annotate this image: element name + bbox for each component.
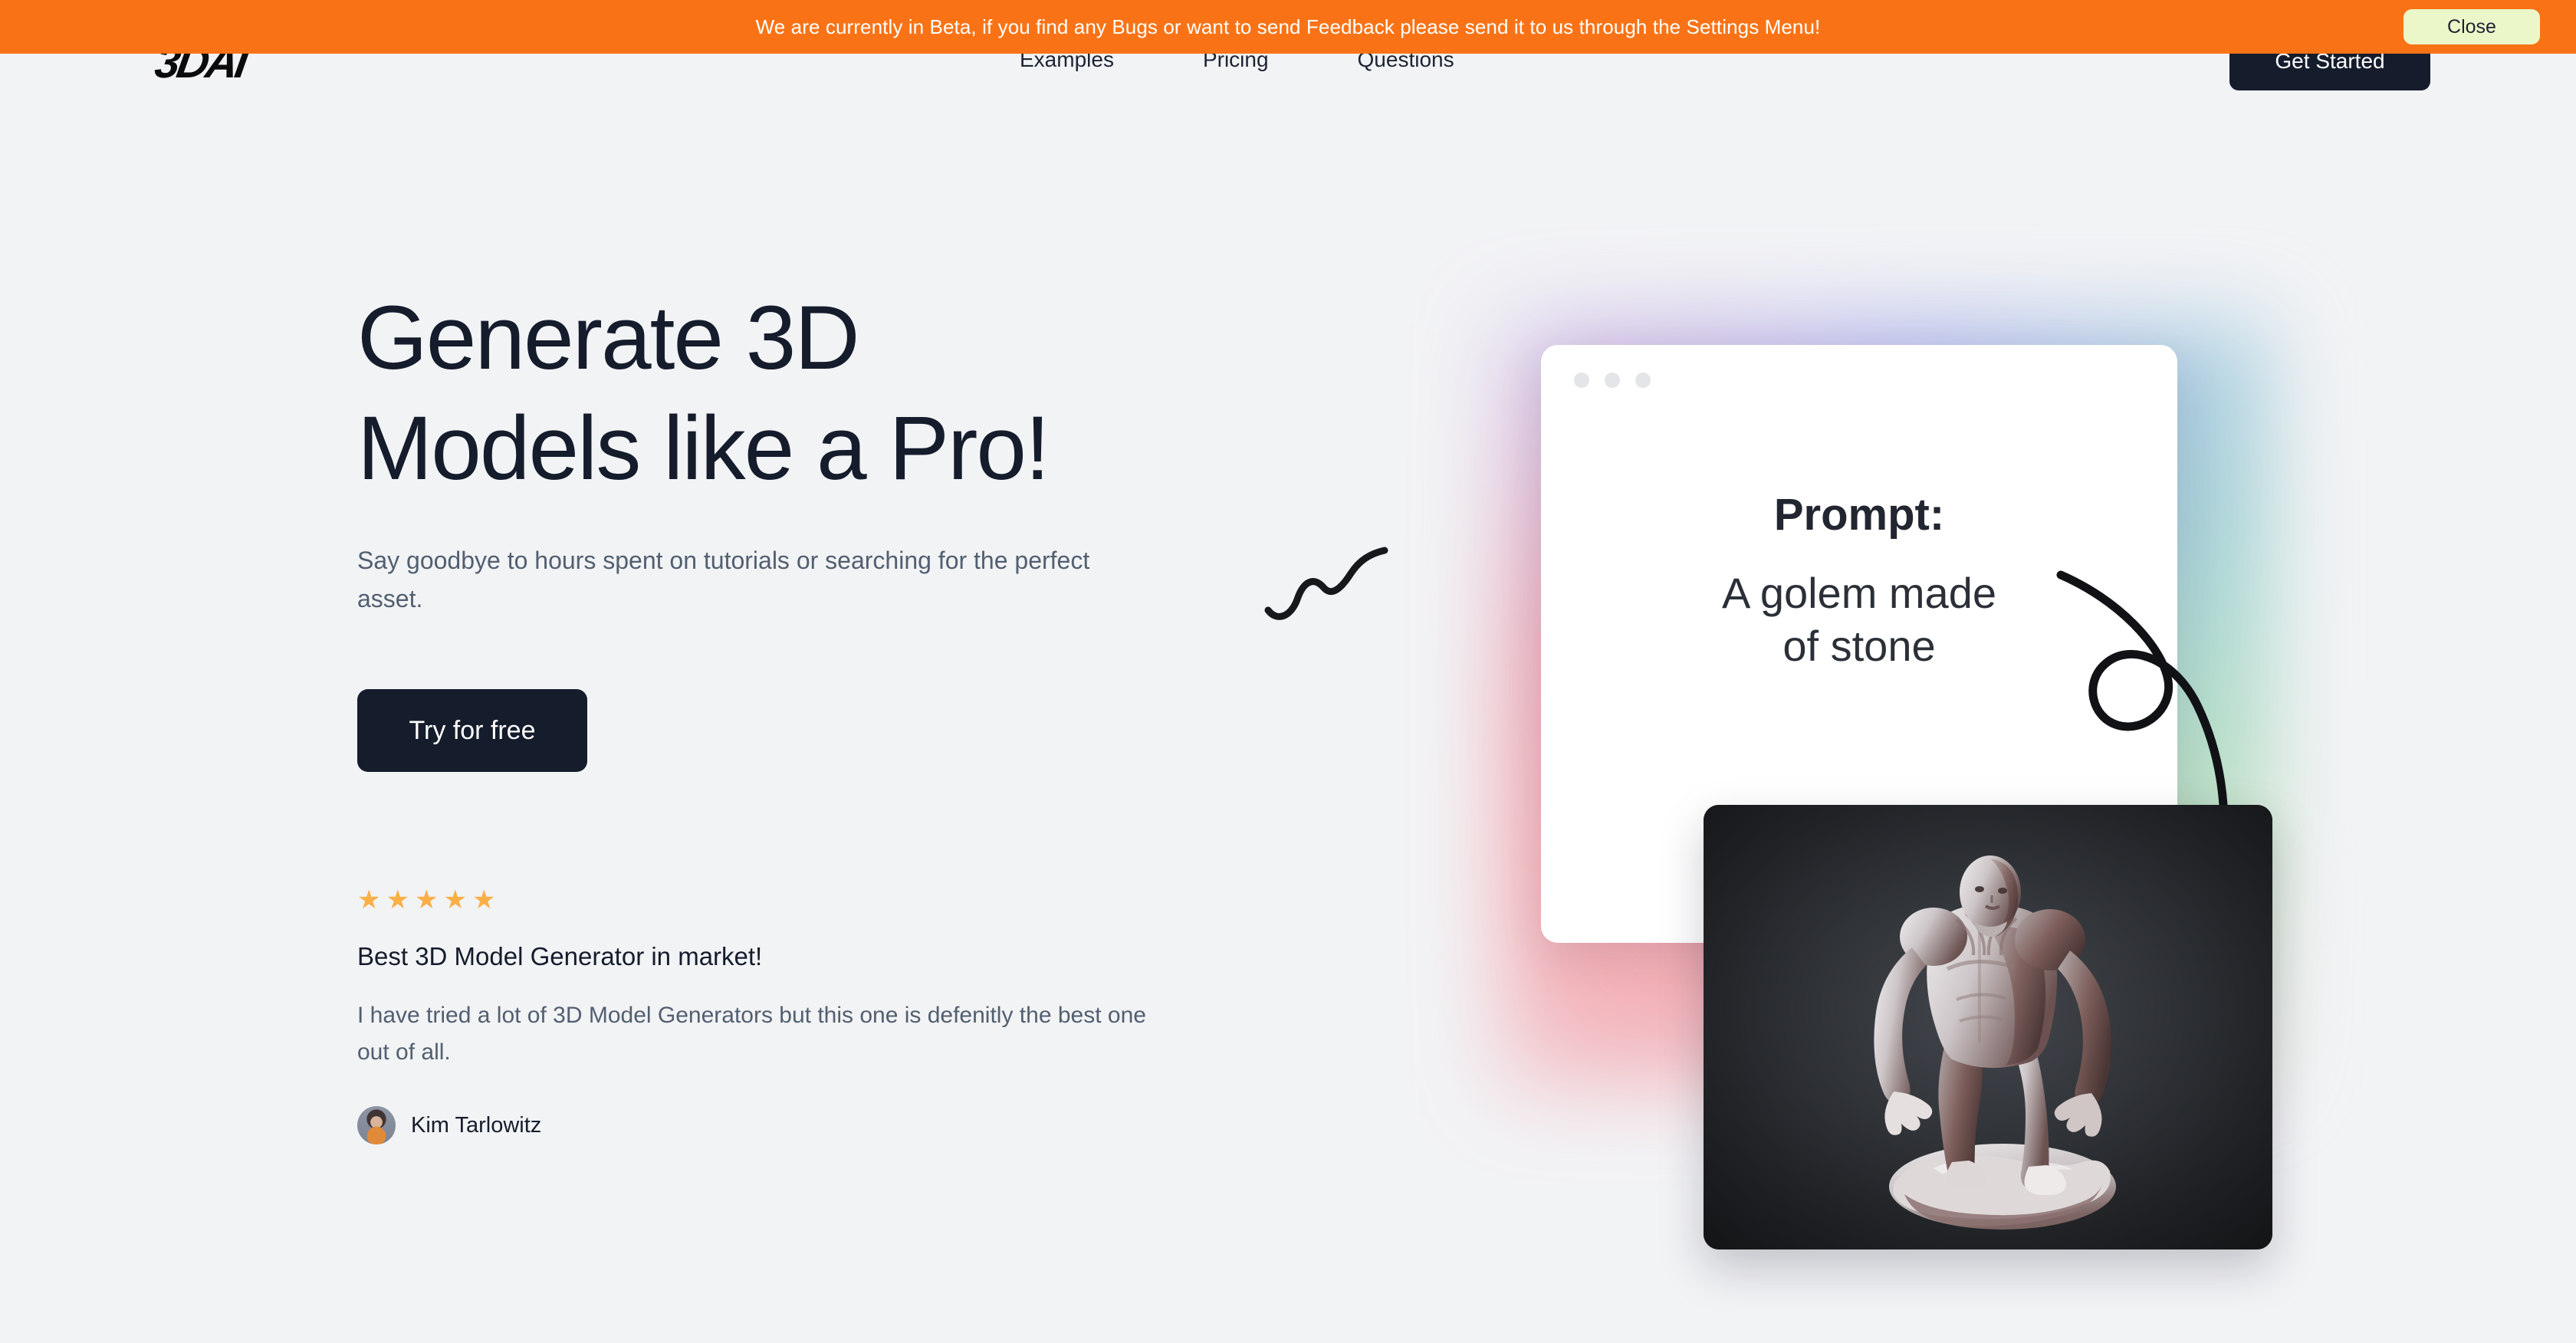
try-for-free-button[interactable]: Try for free (357, 689, 587, 772)
window-dot-icon (1635, 373, 1651, 388)
golem-render-image (1704, 805, 2272, 1249)
star-icon: ★ (443, 887, 466, 913)
rating-stars: ★ ★ ★ ★ ★ (357, 887, 1224, 913)
window-dots (1574, 373, 1651, 388)
window-dot-icon (1605, 373, 1620, 388)
beta-banner: We are currently in Beta, if you find an… (0, 0, 2576, 54)
hero-subtitle: Say goodbye to hours spent on tutorials … (357, 541, 1093, 619)
hero-title-line-1: Generate 3D (357, 287, 859, 389)
hero-visual: Prompt: A golem made of stone (1265, 253, 2461, 1288)
hero-section: Generate 3D Models like a Pro! Say goodb… (357, 284, 1224, 1144)
star-icon: ★ (386, 887, 409, 913)
author-name: Kim Tarlowitz (411, 1113, 541, 1138)
hero-title-line-2: Models like a Pro! (357, 398, 1049, 499)
beta-banner-close-button[interactable]: Close (2403, 9, 2540, 44)
testimonial-author: Kim Tarlowitz (357, 1106, 1224, 1144)
prompt-value-line-1: A golem made (1722, 569, 1996, 617)
beta-banner-message: We are currently in Beta, if you find an… (756, 15, 1821, 39)
prompt-label: Prompt: (1587, 489, 2131, 540)
testimonial-body: I have tried a lot of 3D Model Generator… (357, 997, 1155, 1071)
star-icon: ★ (415, 887, 438, 913)
result-card[interactable] (1704, 805, 2272, 1249)
testimonial-title: Best 3D Model Generator in market! (357, 942, 1224, 971)
testimonial: ★ ★ ★ ★ ★ Best 3D Model Generator in mar… (357, 887, 1224, 1144)
prompt-value-line-2: of stone (1783, 622, 1935, 670)
star-icon: ★ (472, 887, 495, 913)
star-icon: ★ (357, 887, 380, 913)
avatar (357, 1106, 396, 1144)
squiggle-doodle-icon (1257, 537, 1403, 629)
window-dot-icon (1574, 373, 1589, 388)
hero-title: Generate 3D Models like a Pro! (357, 284, 1224, 504)
